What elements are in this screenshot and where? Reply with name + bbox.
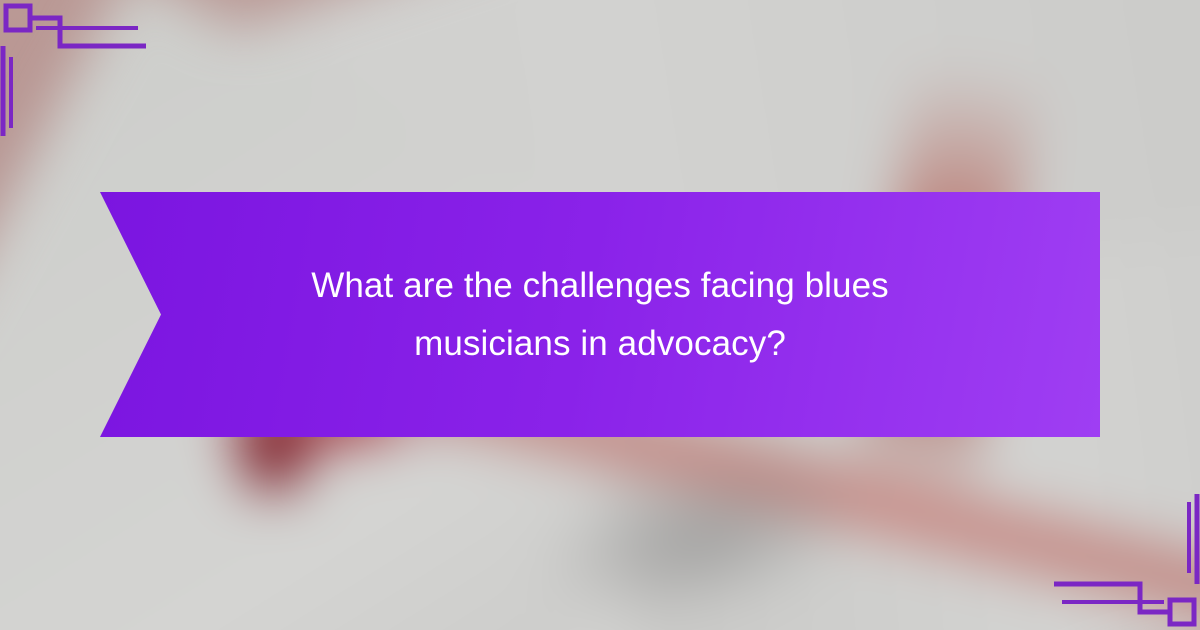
- question-text: What are the challenges facing blues mus…: [270, 257, 930, 371]
- social-card: What are the challenges facing blues mus…: [0, 0, 1200, 630]
- question-banner: What are the challenges facing blues mus…: [100, 192, 1100, 437]
- background-ink-mark-3: [240, 430, 310, 496]
